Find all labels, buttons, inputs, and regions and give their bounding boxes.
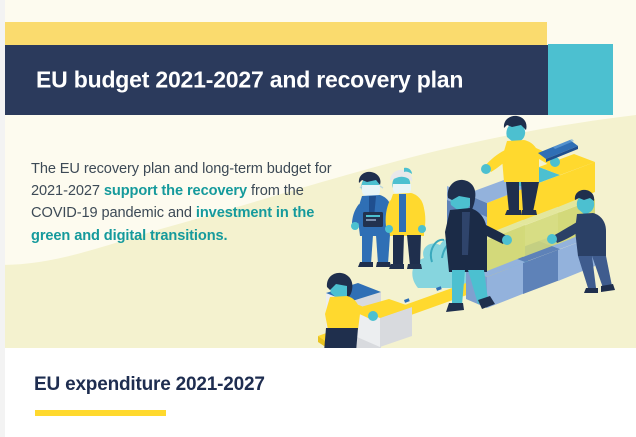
section-heading: EU expenditure 2021-2027 (34, 374, 265, 396)
intro-paragraph: The EU recovery plan and long-term budge… (31, 158, 336, 247)
left-edge-strip (0, 0, 5, 437)
header-yellow-bar (5, 22, 547, 46)
header-navy-bar: EU budget 2021-2027 and recovery plan (5, 45, 548, 115)
header-teal-accent (548, 44, 613, 115)
section-heading-underline (35, 410, 166, 416)
intro-highlight-1: support the recovery (104, 183, 247, 199)
infographic-page: .nv{fill:#1f2f4d}.bl{fill:#2f6fb5}.sb{fi… (0, 0, 636, 437)
page-title: EU budget 2021-2027 and recovery plan (36, 67, 463, 94)
